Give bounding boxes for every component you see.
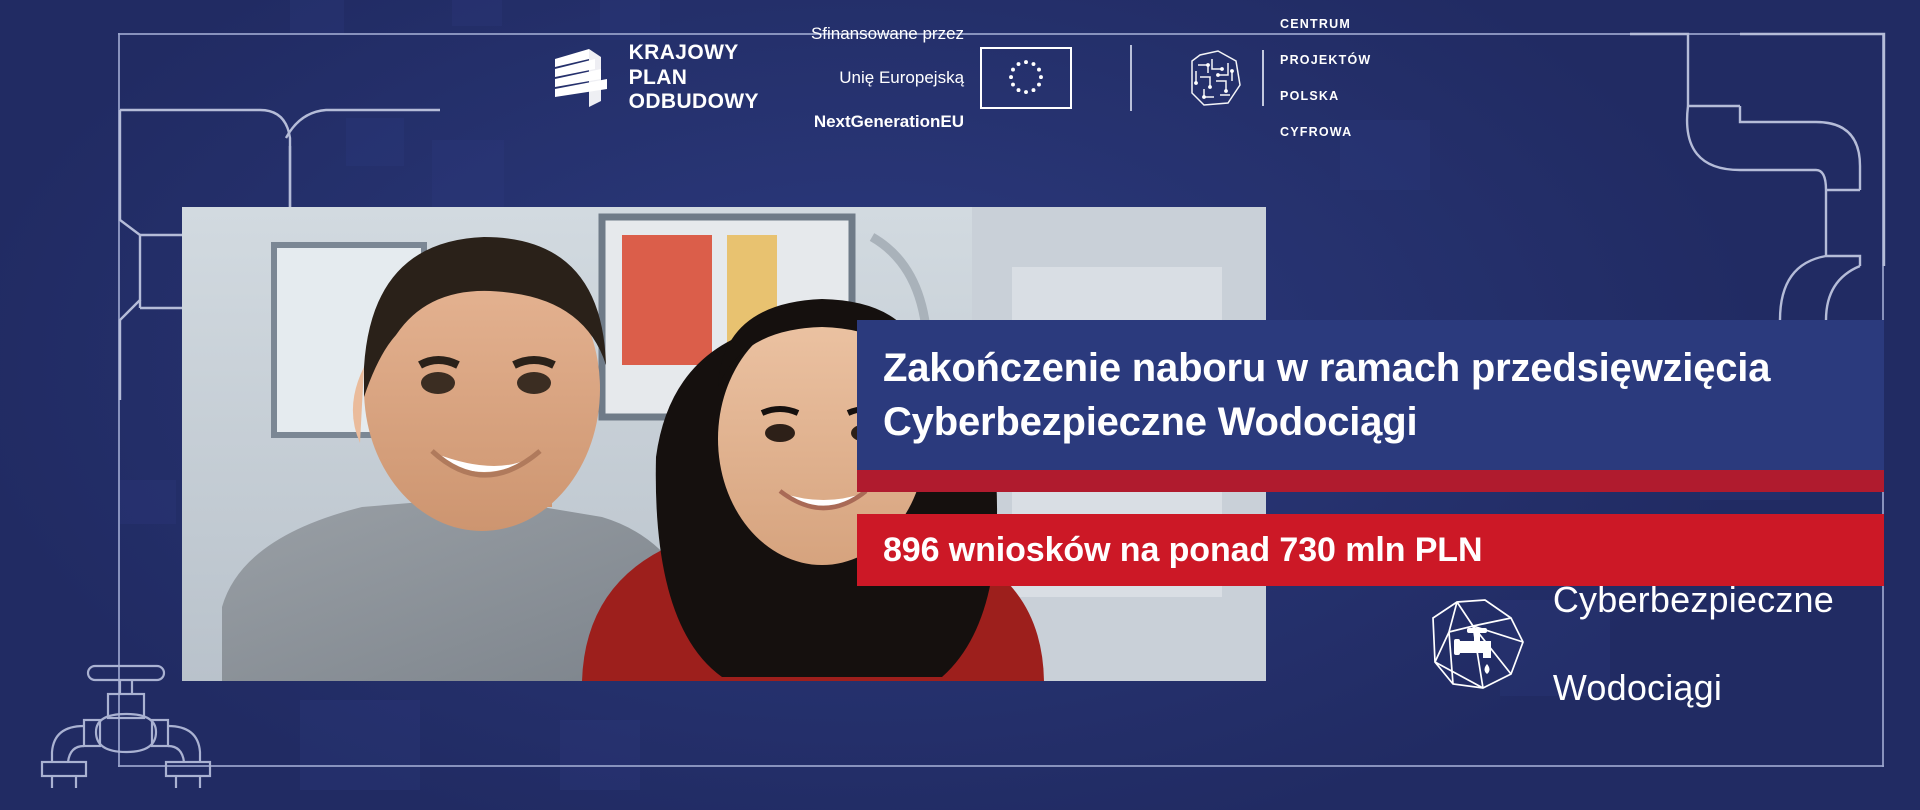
poland-circuit-map-icon	[1184, 45, 1246, 111]
kpo-line-2: PLAN	[629, 66, 759, 91]
eu-line-1: Sfinansowane przez	[811, 23, 964, 45]
headline-line-1: Zakończenie naboru w ramach przedsięwzię…	[883, 342, 1858, 396]
program-logo-line-1: Cyberbezpieczne	[1553, 578, 1834, 622]
highlight-text: 896 wniosków na ponad 730 mln PLN	[883, 531, 1482, 570]
cppc-line-2: PROJEKTÓW	[1280, 51, 1371, 69]
centrum-projektow-polska-cyfrowa-logo: CENTRUM PROJEKTÓW POLSKA CYFROWA	[1184, 0, 1371, 160]
kpo-wordmark: KRAJOWY PLAN ODBUDOWY	[629, 41, 759, 115]
program-logo-line-2: Wodociągi	[1553, 666, 1834, 710]
kpo-line-3: ODBUDOWY	[629, 90, 759, 115]
logo-divider	[1130, 45, 1132, 111]
krajowy-plan-odbudowy-logo: KRAJOWY PLAN ODBUDOWY	[549, 41, 759, 115]
european-union-flag-icon	[980, 47, 1072, 109]
kpo-building-icon	[549, 45, 615, 111]
eu-line-2: Unię Europejską	[811, 67, 964, 89]
cppc-line-3: POLSKA	[1280, 87, 1371, 105]
headline-line-2: Cyberbezpieczne Wodociągi	[883, 396, 1858, 450]
headline-accent-stripe	[857, 470, 1884, 492]
cyberbezpieczne-wodociagi-logo: Cyberbezpieczne Wodociągi	[1427, 534, 1834, 754]
cppc-wordmark: CENTRUM PROJEKTÓW POLSKA CYFROWA	[1280, 0, 1371, 160]
cyberbezpieczne-wodociagi-wordmark: Cyberbezpieczne Wodociągi	[1553, 534, 1834, 754]
frame-line-bottom	[118, 765, 1884, 767]
cyberbezpieczne-wodociagi-faucet-icon	[1427, 592, 1531, 696]
cppc-line-1: CENTRUM	[1280, 15, 1371, 33]
eu-funding-logo: Sfinansowane przez Unię Europejską NextG…	[811, 1, 1072, 156]
headline-box: Zakończenie naboru w ramach przedsięwzię…	[857, 320, 1884, 475]
eu-line-3: NextGenerationEU	[811, 111, 964, 133]
frame-line-left	[118, 33, 120, 767]
header-logo-row: KRAJOWY PLAN ODBUDOWY Sfinansowane przez…	[0, 38, 1920, 118]
banner-canvas: KRAJOWY PLAN ODBUDOWY Sfinansowane przez…	[0, 0, 1920, 810]
cppc-divider	[1262, 50, 1264, 106]
cppc-line-4: CYFROWA	[1280, 123, 1371, 141]
kpo-line-1: KRAJOWY	[629, 41, 759, 66]
eu-funding-text: Sfinansowane przez Unię Europejską NextG…	[811, 1, 964, 156]
